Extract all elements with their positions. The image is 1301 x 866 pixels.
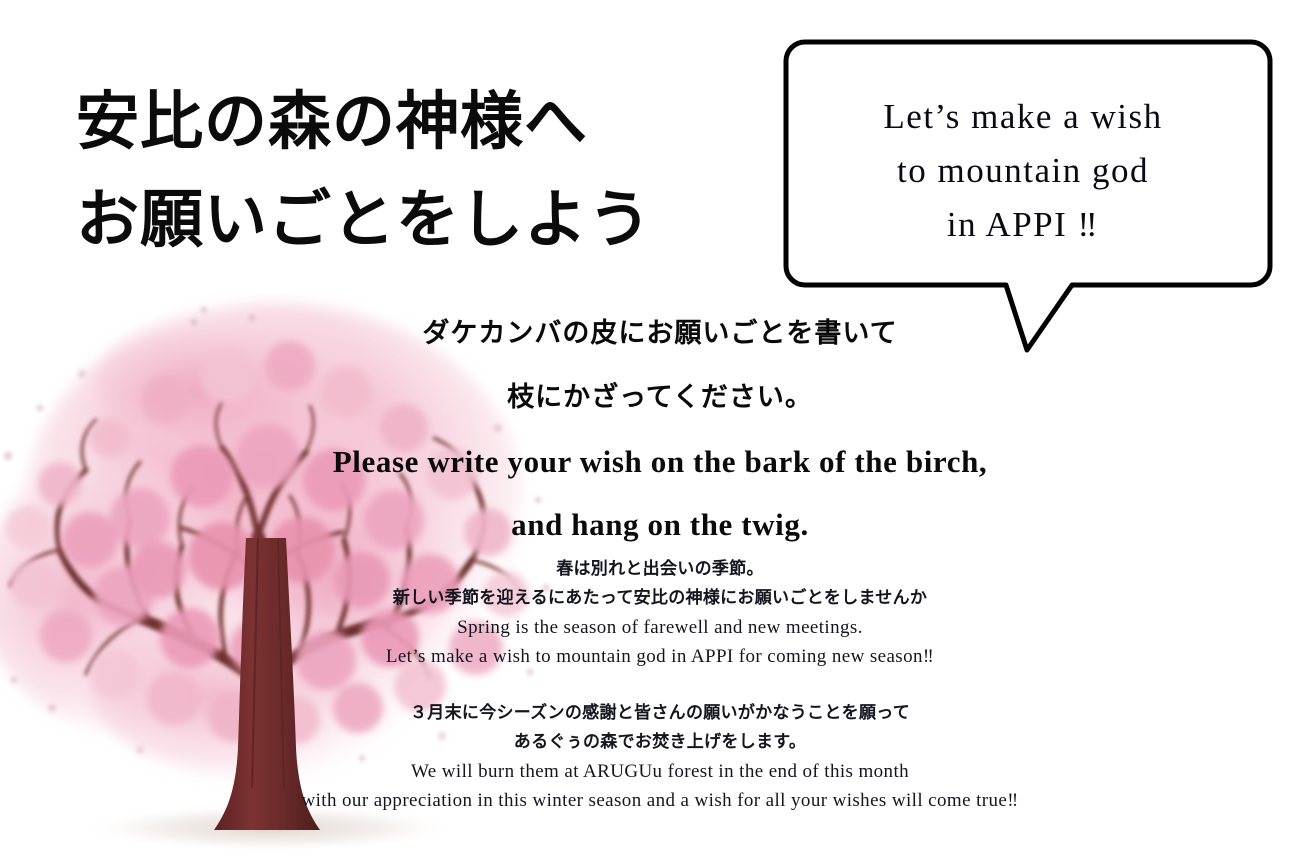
speech-bubble-text: Let’s make a wish to mountain god in APP… bbox=[772, 90, 1274, 252]
detail2-jp-line-1: ３月末に今シーズンの感謝と皆さんの願いがかなうことを願って bbox=[150, 699, 1170, 728]
instruction-jp-line-2: 枝にかざってください。 bbox=[180, 366, 1140, 430]
bubble-line-1: Let’s make a wish bbox=[772, 90, 1274, 144]
instruction-en-line-2: and hang on the twig. bbox=[180, 493, 1140, 556]
detail-paragraph-2: ３月末に今シーズンの感謝と皆さんの願いがかなうことを願って あるぐぅの森でお焚き… bbox=[150, 699, 1170, 815]
detail1-en-line-2: Let’s make a wish to mountain god in APP… bbox=[150, 642, 1170, 671]
detail1-en-line-1: Spring is the season of farewell and new… bbox=[150, 613, 1170, 642]
detail1-jp-line-1: 春は別れと出会いの季節。 bbox=[150, 555, 1170, 584]
poster-canvas: 安比の森の神様へ お願いごとをしよう Let’s make a wish to … bbox=[0, 0, 1301, 866]
instruction-en-line-1: Please write your wish on the bark of th… bbox=[180, 430, 1140, 493]
detail-paragraph-1: 春は別れと出会いの季節。 新しい季節を迎えるにあたって安比の神様にお願いごとをし… bbox=[150, 555, 1170, 671]
poster-title: 安比の森の神様へ お願いごとをしよう bbox=[76, 72, 776, 268]
title-line-1: 安比の森の神様へ bbox=[76, 72, 776, 170]
detail2-en-line-1: We will burn them at ARUGUu forest in th… bbox=[150, 757, 1170, 786]
speech-bubble: Let’s make a wish to mountain god in APP… bbox=[772, 28, 1284, 368]
detail1-jp-line-2: 新しい季節を迎えるにあたって安比の神様にお願いごとをしませんか bbox=[150, 584, 1170, 613]
title-line-2: お願いごとをしよう bbox=[76, 170, 776, 268]
detail2-en-line-2: with our appreciation in this winter sea… bbox=[150, 786, 1170, 815]
bubble-line-3: in APPI ‼ bbox=[772, 198, 1274, 252]
bubble-line-2: to mountain god bbox=[772, 144, 1274, 198]
details-block: 春は別れと出会いの季節。 新しい季節を迎えるにあたって安比の神様にお願いごとをし… bbox=[150, 555, 1170, 815]
detail2-jp-line-2: あるぐぅの森でお焚き上げをします。 bbox=[150, 728, 1170, 757]
